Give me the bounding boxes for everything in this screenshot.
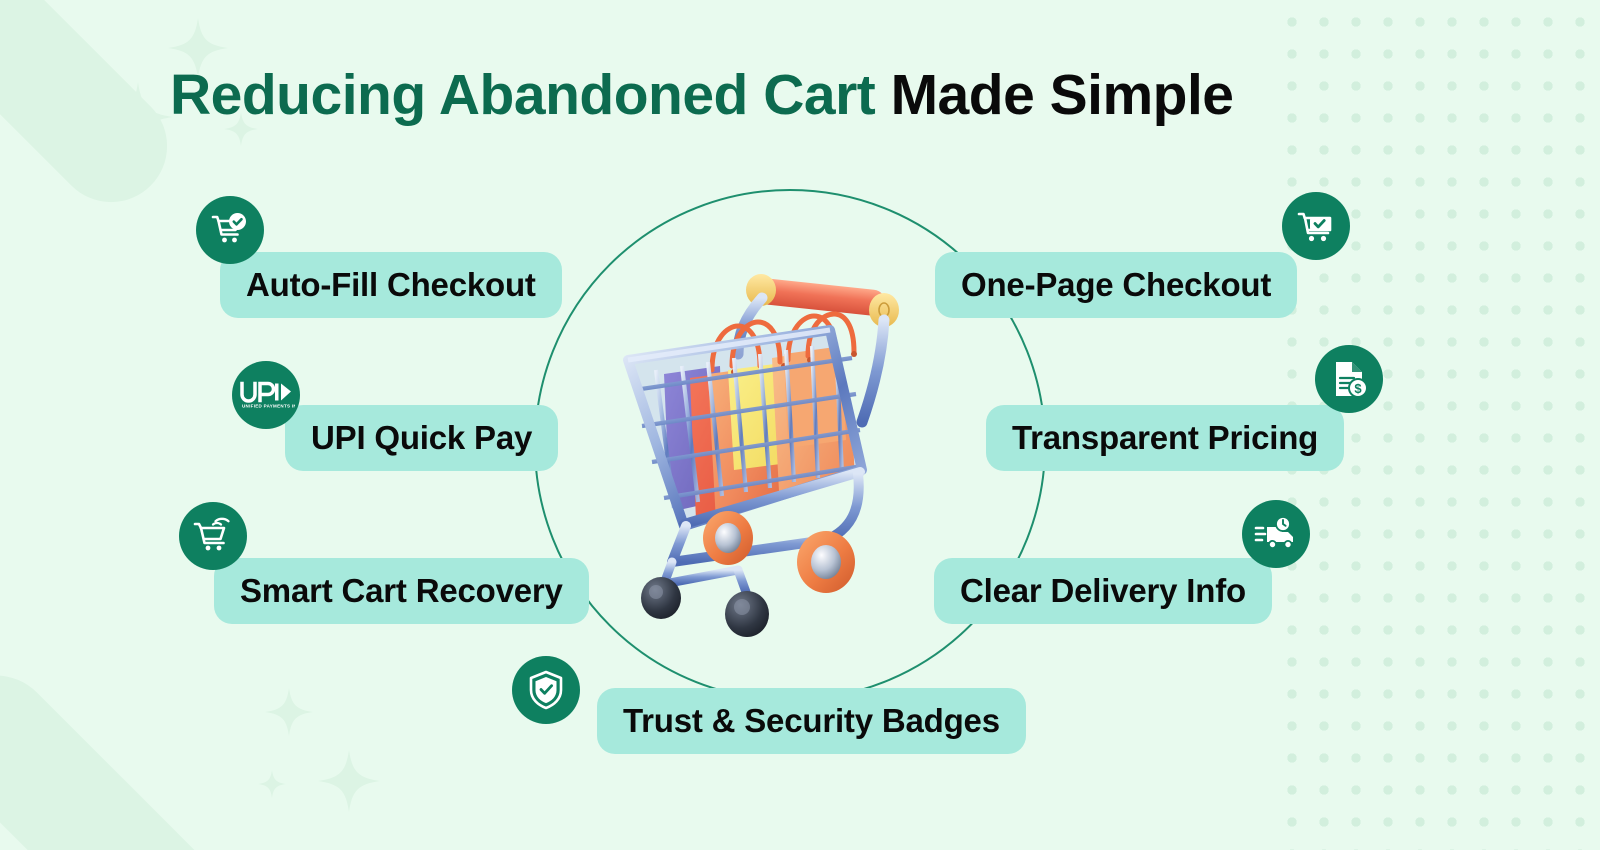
sparkle-icon	[258, 770, 286, 798]
delivery-truck-clock-icon	[1242, 500, 1310, 568]
feature-pill-label[interactable]: Auto-Fill Checkout	[220, 252, 562, 318]
upi-subtext: UNIFIED PAYMENTS INTERFACE	[242, 404, 295, 409]
title-green-part: Reducing Abandoned Cart	[170, 63, 875, 127]
feature-pill-label[interactable]: UPI Quick Pay	[285, 405, 558, 471]
cart-check-icon	[1282, 192, 1350, 260]
feature-pill-label[interactable]: One-Page Checkout	[935, 252, 1297, 318]
document-dollar-icon: $	[1315, 345, 1383, 413]
capsule-decoration-top-left	[0, 0, 190, 225]
shield-check-icon	[512, 656, 580, 724]
shopping-cart-illustration	[612, 262, 942, 642]
page-title: Reducing Abandoned Cart Made Simple	[170, 62, 1234, 128]
sparkle-icon	[103, 82, 173, 152]
capsule-decoration-bottom-left	[0, 651, 250, 850]
sparkle-icon	[318, 750, 380, 812]
feature-pill-label[interactable]: Smart Cart Recovery	[214, 558, 589, 624]
sparkle-icon	[265, 688, 313, 736]
upi-logo-icon: UNIFIED PAYMENTS INTERFACE	[232, 361, 300, 429]
cart-check-icon	[196, 196, 264, 264]
feature-pill-label[interactable]: Trust & Security Badges	[597, 688, 1026, 754]
feature-pill-label[interactable]: Transparent Pricing	[986, 405, 1344, 471]
feature-pill-label[interactable]: Clear Delivery Info	[934, 558, 1272, 624]
title-black-part: Made Simple	[891, 63, 1234, 127]
cart-signal-icon	[179, 502, 247, 570]
infographic-canvas: Reducing Abandoned Cart Made Simple	[0, 0, 1600, 850]
svg-text:$: $	[1354, 381, 1362, 396]
